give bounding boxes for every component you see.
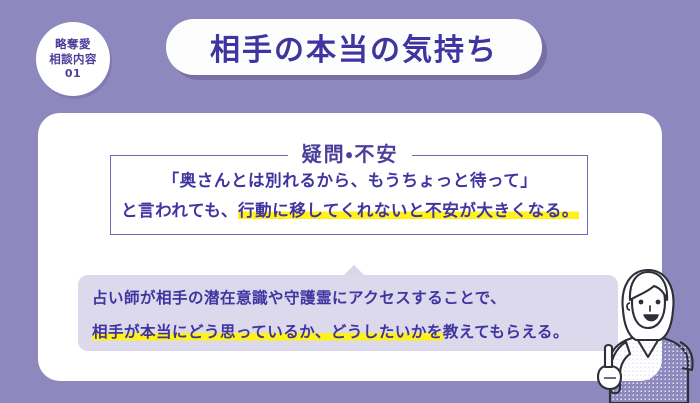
question-box bbox=[110, 155, 588, 235]
slide-root: 略奪愛 相談内容 01 相手の本当の気持ち 疑問・不安 「奥さんとは別れるから、… bbox=[0, 0, 700, 403]
answer-text: 占い師が相手の潜在意識や守護霊にアクセスすることで、 相手が本当にどう思っている… bbox=[92, 281, 612, 349]
category-badge: 略奪愛 相談内容 01 bbox=[36, 22, 110, 96]
badge-number: 01 bbox=[65, 67, 81, 81]
answer-line-2-plain: 教えてもらえる。 bbox=[443, 323, 569, 341]
title-pill: 相手の本当の気持ち bbox=[166, 19, 542, 75]
question-heading-wrap: 疑問・不安 bbox=[0, 138, 700, 167]
badge-line-2: 相談内容 bbox=[49, 52, 97, 67]
page-title: 相手の本当の気持ち bbox=[210, 25, 498, 69]
answer-line-2: 相手が本当にどう思っているか、どうしたいかを教えてもらえる。 bbox=[92, 315, 612, 349]
answer-line-2-highlight: 相手が本当にどう思っているか、どうしたいかを bbox=[92, 323, 443, 341]
answer-line-1: 占い師が相手の潜在意識や守護霊にアクセスすることで、 bbox=[92, 281, 612, 315]
question-heading: 疑問・不安 bbox=[288, 138, 413, 167]
badge-line-1: 略奪愛 bbox=[55, 37, 91, 52]
woman-pointing-up-icon bbox=[596, 262, 700, 403]
